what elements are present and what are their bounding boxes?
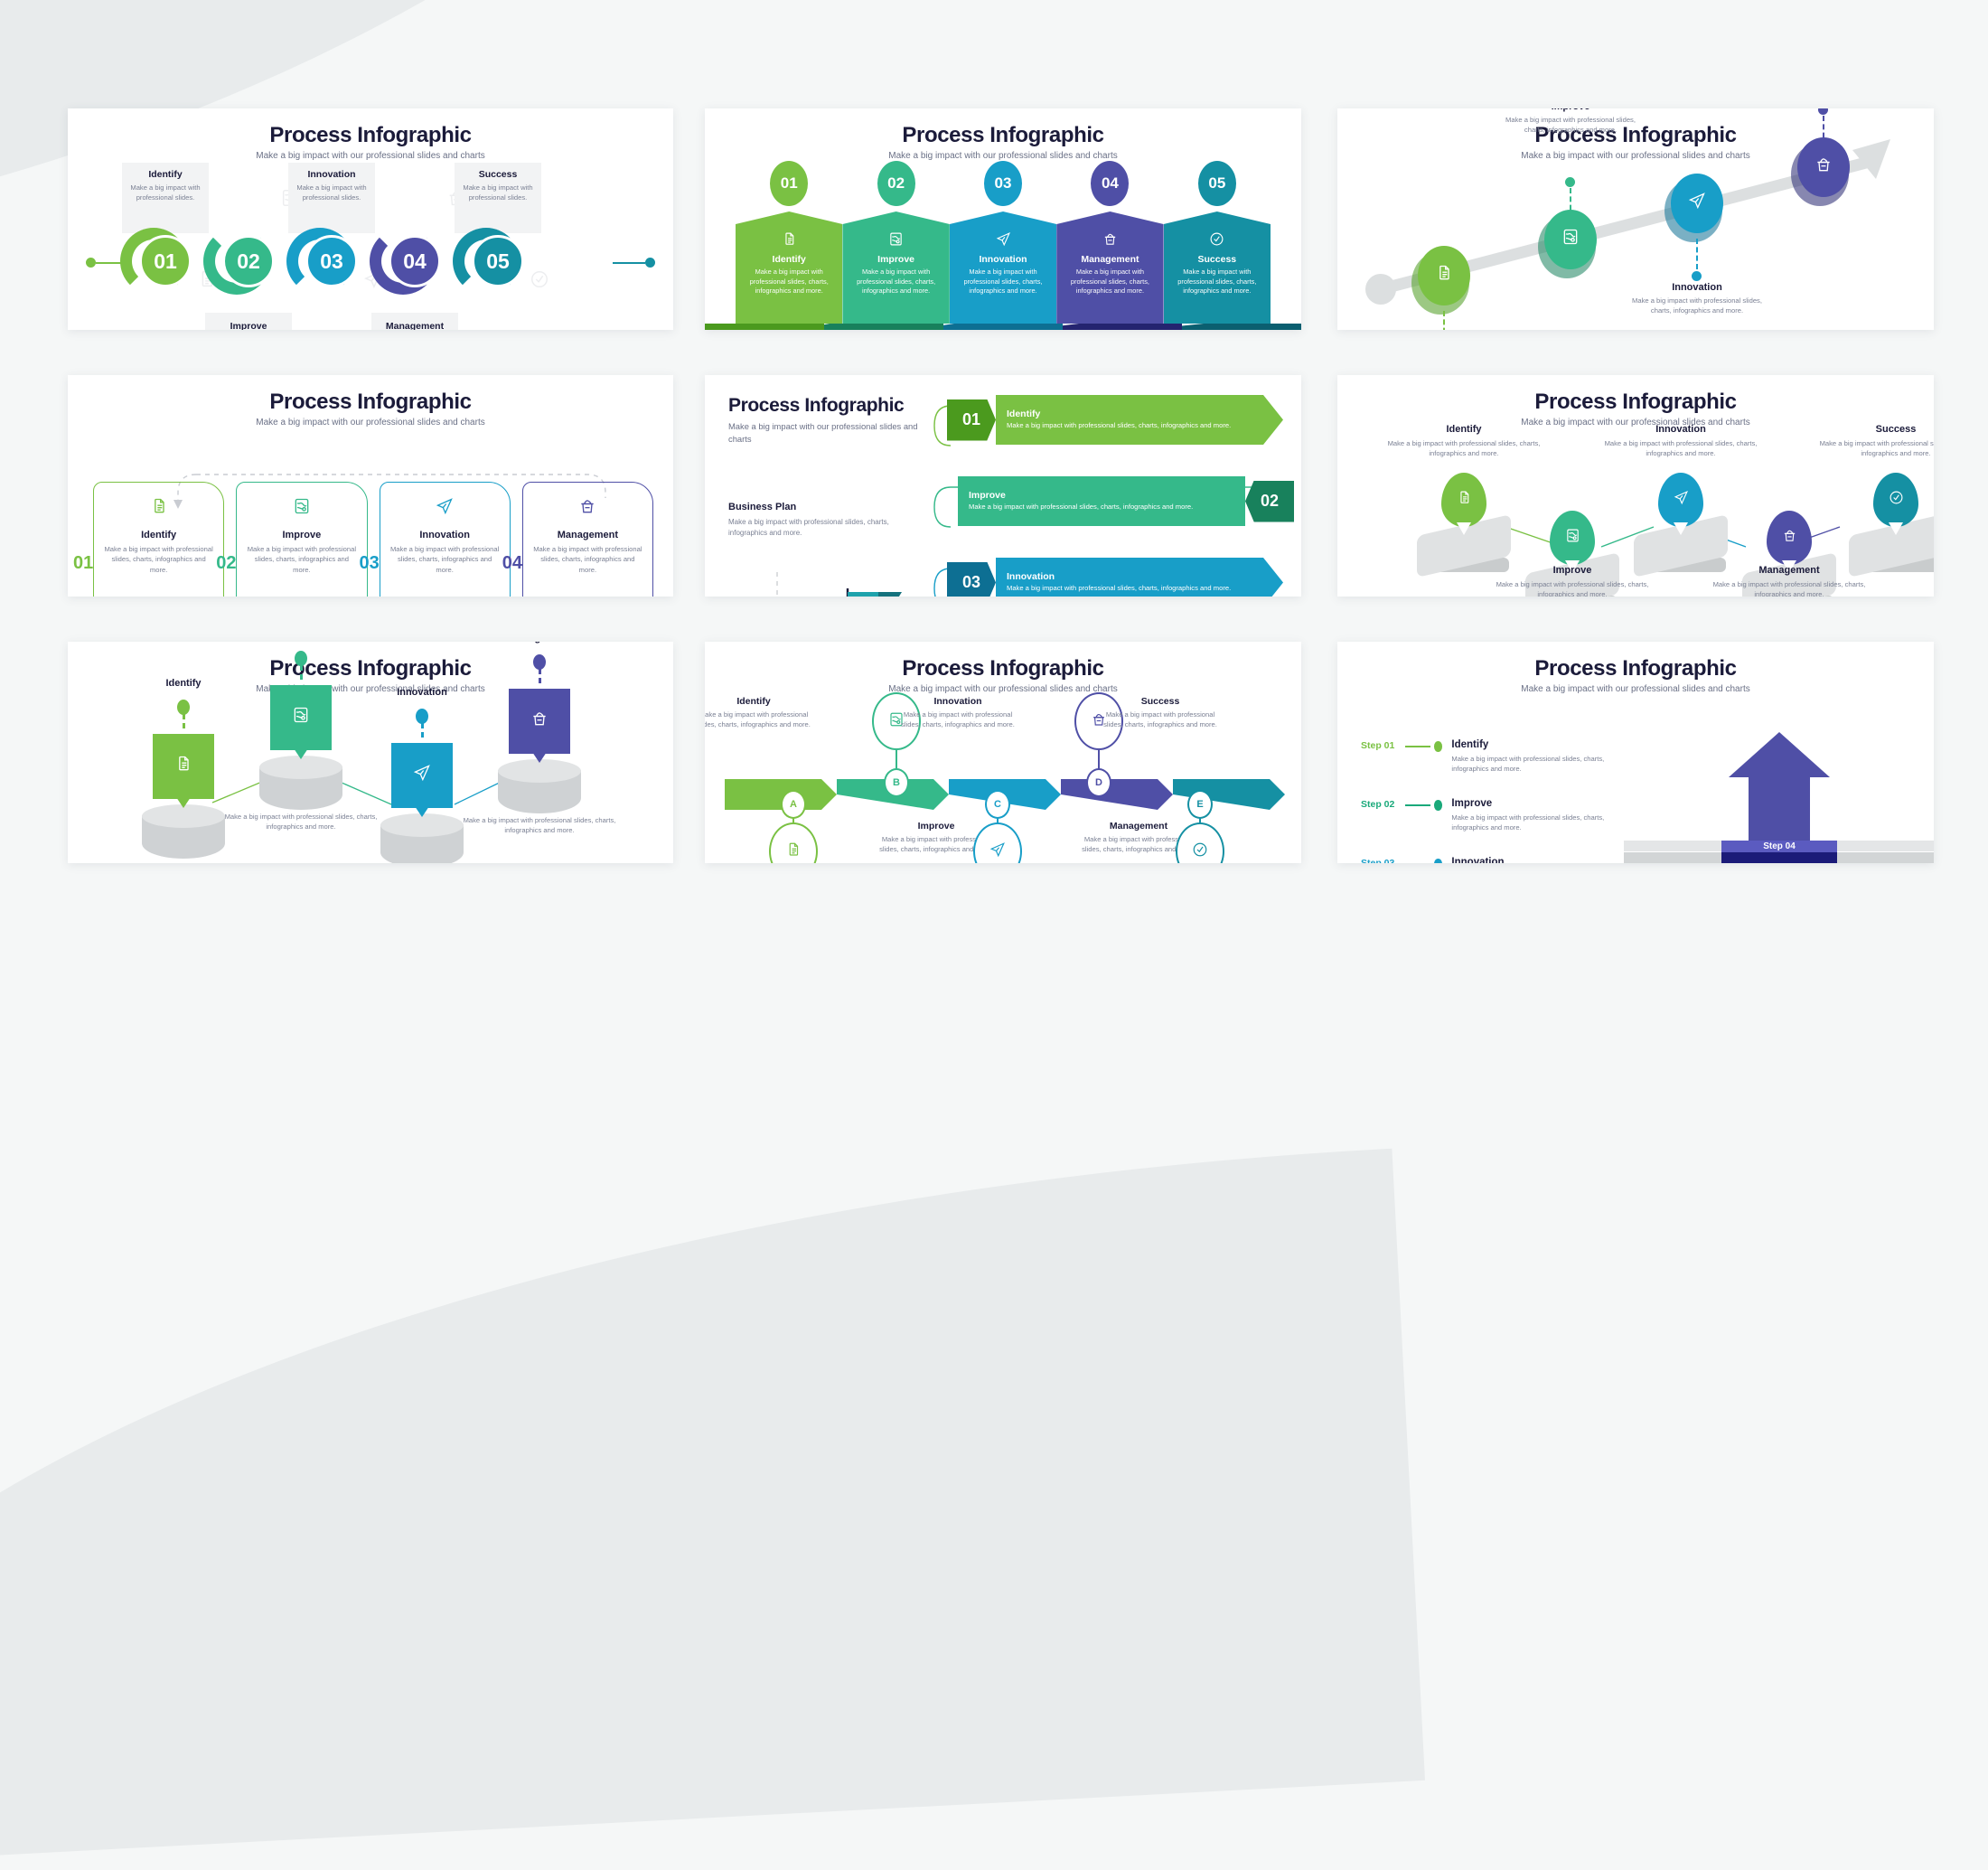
step-title: Identify xyxy=(1451,739,1632,750)
step-title: Innovation xyxy=(900,696,1016,707)
page-title: Process Infographic xyxy=(705,642,1301,681)
step-badge[interactable]: 05 xyxy=(1164,161,1271,206)
step-number: 02 xyxy=(877,161,915,206)
step-number: 03 xyxy=(984,161,1022,206)
outlined-step-card[interactable]: 04 Management Make a big impact with pro… xyxy=(522,482,653,597)
outlined-step-card[interactable]: 03 Innovation Make a big impact with pro… xyxy=(380,482,511,597)
step-description: Make a big impact with professional slid… xyxy=(742,268,836,296)
pentagon-column[interactable]: Management Make a big impact with profes… xyxy=(1056,211,1163,324)
page-title: Process Infographic xyxy=(1337,642,1934,681)
step-badge[interactable]: 01 xyxy=(736,161,842,206)
step-description: Make a big impact with professional slid… xyxy=(245,544,358,575)
step-title: Improve xyxy=(878,821,994,832)
floor-segment xyxy=(1063,324,1182,330)
map-icon xyxy=(245,497,358,519)
step-description: Make a big impact with professional slid… xyxy=(460,183,536,202)
step-description: Make a big impact with professional slid… xyxy=(224,812,378,832)
connector-dash xyxy=(421,723,424,738)
step-title: Identify xyxy=(116,678,251,689)
pin-text: Success Make a big impact with professio… xyxy=(1812,424,1934,458)
slide-chevron-band[interactable]: Process Infographic Make a big impact wi… xyxy=(705,642,1301,863)
check-circle-icon xyxy=(1170,231,1264,249)
connector-dot xyxy=(1692,271,1702,281)
step-number-circle[interactable]: 03 xyxy=(305,235,358,287)
step-description: Make a big impact with professional slid… xyxy=(849,268,942,296)
document-icon xyxy=(742,231,836,249)
cylinder-base xyxy=(380,813,464,863)
step-list-row[interactable]: Step 01 Identify Make a big impact with … xyxy=(1361,739,1632,775)
node-circle[interactable] xyxy=(1418,246,1470,305)
slide-pin-platforms[interactable]: Process Infographic Make a big impact wi… xyxy=(1337,375,1934,597)
step-description: Make a big impact with professional slid… xyxy=(1451,754,1632,775)
step-letter[interactable]: E xyxy=(1187,790,1213,819)
connector-dash xyxy=(1823,116,1824,146)
step-title: Innovation xyxy=(956,254,1050,265)
location-pin[interactable] xyxy=(1767,511,1812,565)
check-circle-icon xyxy=(530,269,549,295)
slide-pentagon-columns[interactable]: Process Infographic Make a big impact wi… xyxy=(705,108,1301,330)
step-description: Make a big impact with professional slid… xyxy=(389,544,502,575)
process-arrow-row[interactable]: 02 Improve Make a big impact with profes… xyxy=(958,476,1294,526)
step-title: Management xyxy=(531,530,644,540)
paper-plane-icon xyxy=(1688,192,1706,215)
page-subtitle: Make a big impact with our professional … xyxy=(728,420,918,445)
paper-plane-icon xyxy=(413,764,431,787)
step-list-row[interactable]: Step 03 Innovation Make a big impact wit… xyxy=(1361,857,1632,863)
connector-dash xyxy=(183,714,185,728)
map-icon xyxy=(292,706,310,729)
document-icon xyxy=(174,755,192,778)
paper-plane-icon xyxy=(956,231,1050,249)
page-subtitle: Make a big impact with our professional … xyxy=(705,151,1301,161)
flag-card[interactable] xyxy=(153,734,214,799)
archive-box-icon xyxy=(1815,155,1833,179)
rising-arrow-diagram: Identify Make a big impact with professi… xyxy=(1337,108,1934,330)
page-title: Process Infographic xyxy=(728,395,918,417)
map-icon xyxy=(1565,528,1580,548)
slide-stairs[interactable]: Process Infographic Make a big impact wi… xyxy=(1337,642,1934,863)
chevron-segment xyxy=(1061,779,1173,810)
up-arrow xyxy=(1729,732,1830,845)
step-label: Step 03 xyxy=(1361,857,1400,863)
connector-dot xyxy=(177,700,190,715)
document-icon xyxy=(1457,490,1472,510)
step-description: Make a big impact with professional slid… xyxy=(1597,438,1765,458)
node-circle[interactable] xyxy=(1671,174,1723,233)
step-number: 04 xyxy=(502,553,522,574)
step-title: Management xyxy=(472,642,607,644)
step-title: Identify xyxy=(127,169,203,180)
connector-dot xyxy=(295,651,307,666)
step-title: Success xyxy=(1170,254,1264,265)
connector-dash xyxy=(1443,311,1445,330)
step-description: Make a big impact with professional slid… xyxy=(969,503,1193,512)
connector-dot xyxy=(533,654,546,670)
step-letter[interactable]: D xyxy=(1086,768,1111,797)
step-card[interactable]: Improve Make a big impact with professio… xyxy=(205,313,292,330)
step-description: Make a big impact with professional slid… xyxy=(1170,268,1264,296)
step-title: Identify xyxy=(1007,409,1231,419)
slide-outlined-cards[interactable]: Process Infographic Make a big impact wi… xyxy=(68,375,673,597)
wave-diagram: Identify Make a big impact with professi… xyxy=(68,163,673,325)
step-title: Innovation xyxy=(354,687,490,698)
outlined-step-card[interactable]: 01 Identify Make a big impact with profe… xyxy=(93,482,224,597)
page-title: Process Infographic xyxy=(705,108,1301,148)
step-dot xyxy=(1434,859,1443,863)
node-text: Innovation Make a big impact with profes… xyxy=(1626,282,1768,315)
step-title: Improve xyxy=(1499,108,1642,112)
step-title: Innovation xyxy=(1007,571,1231,582)
step-title: Innovation xyxy=(1626,282,1768,293)
node-text: Improve Make a big impact with professio… xyxy=(1499,108,1642,135)
step-list: Step 01 Identify Make a big impact with … xyxy=(1361,739,1632,863)
step-description: Make a big impact with professional slid… xyxy=(1626,296,1768,315)
step-text: Success Make a big impact with professio… xyxy=(1102,696,1218,729)
step-card[interactable]: Innovation Make a big impact with profes… xyxy=(288,163,375,233)
location-pin[interactable] xyxy=(1873,473,1918,527)
archive-box-icon xyxy=(530,709,549,733)
step-letter[interactable]: C xyxy=(985,790,1010,819)
slide-business-plan[interactable]: Process Infographic Make a big impact wi… xyxy=(705,375,1301,597)
slide-cylinder-platforms[interactable]: Process Infographic Make a big impact wi… xyxy=(68,642,673,863)
floor-segment xyxy=(1182,324,1301,330)
step-dot xyxy=(1434,800,1443,811)
step-title: Success xyxy=(460,169,536,180)
step-title: Improve xyxy=(1451,798,1632,809)
pin-text: Innovation Make a big impact with profes… xyxy=(1597,424,1765,458)
step-description: Make a big impact with professional slid… xyxy=(900,709,1016,729)
map-icon xyxy=(849,231,942,249)
pin-text: Identify Make a big impact with professi… xyxy=(1380,424,1548,458)
step-number: 01 xyxy=(947,399,996,441)
step-description: Make a big impact with professional slid… xyxy=(1063,268,1157,296)
step-title: Management xyxy=(377,321,453,330)
connector-dot xyxy=(1565,177,1575,187)
process-arrow-row[interactable]: 01 Identify Make a big impact with profe… xyxy=(947,395,1283,445)
step-badge[interactable]: 03 xyxy=(950,161,1056,206)
step-number-circle[interactable]: 04 xyxy=(389,235,441,287)
step-description: Make a big impact with professional slid… xyxy=(127,183,203,202)
step-text: Innovation Make a big impact with profes… xyxy=(900,696,1016,729)
pentagon-column[interactable]: Improve Make a big impact with professio… xyxy=(842,211,949,324)
floor-segment xyxy=(824,324,943,330)
step-letter[interactable]: B xyxy=(884,768,909,797)
step-description: Make a big impact with professional slid… xyxy=(705,709,811,729)
check-circle-icon xyxy=(1192,841,1208,862)
flag-card[interactable] xyxy=(270,685,332,750)
step-description: Make a big impact with professional slid… xyxy=(1451,813,1632,833)
step-title: Improve xyxy=(245,530,358,540)
paper-plane-icon xyxy=(1674,490,1689,510)
connector-dash xyxy=(539,669,541,683)
document-icon xyxy=(785,841,802,862)
slide-wave-circles[interactable]: Process Infographic Make a big impact wi… xyxy=(68,108,673,330)
step-title: Identify xyxy=(102,530,215,540)
connector-dash xyxy=(1570,188,1571,219)
slide-heading-block: Process Infographic Make a big impact wi… xyxy=(728,395,918,445)
step-number-circle[interactable]: 05 xyxy=(472,235,524,287)
step-description: Make a big impact with professional slid… xyxy=(294,183,370,202)
page-subtitle: Make a big impact with our professional … xyxy=(68,418,673,428)
connector-dot xyxy=(416,709,428,724)
step-title: Innovation xyxy=(1451,857,1632,863)
step-number: 05 xyxy=(1198,161,1236,206)
outlined-step-card[interactable]: 02 Improve Make a big impact with profes… xyxy=(236,482,367,597)
cylinder-base xyxy=(259,756,342,810)
page-subtitle: Make a big impact with our professional … xyxy=(1337,684,1934,694)
step-title: Innovation xyxy=(1597,424,1765,435)
business-plan-desc: Make a big impact with professional slid… xyxy=(728,517,909,539)
cylinder-base xyxy=(498,759,581,813)
step-number: 02 xyxy=(1245,481,1294,522)
step-card[interactable]: Success Make a big impact with professio… xyxy=(455,163,541,233)
step-description: Make a big impact with professional slid… xyxy=(1007,584,1231,594)
step-text: Identify Make a big impact with professi… xyxy=(705,696,811,729)
floor-segment xyxy=(943,324,1063,330)
step-description: Make a big impact with professional slid… xyxy=(1499,115,1642,135)
flag-card[interactable] xyxy=(509,689,570,754)
document-icon xyxy=(1435,264,1453,287)
step-number: 02 xyxy=(216,553,236,574)
pentagon-column[interactable]: Success Make a big impact with professio… xyxy=(1164,211,1271,324)
step-title: Management xyxy=(1081,821,1196,832)
document-icon xyxy=(102,497,215,519)
timeline-end xyxy=(613,258,655,268)
archive-box-icon xyxy=(1063,231,1157,249)
pin-text: Improve Make a big impact with professio… xyxy=(1488,565,1656,597)
step-description: Make a big impact with professional slid… xyxy=(1380,438,1548,458)
step-label: Step 01 xyxy=(1361,739,1400,751)
step-number: 04 xyxy=(1091,161,1129,206)
stairs-diagram: Step 04 Step 03 Step 02 xyxy=(1648,736,1910,863)
pentagon-column[interactable]: Innovation Make a big impact with profes… xyxy=(950,211,1056,324)
page-title: Process Infographic xyxy=(68,375,673,415)
step-description: Make a big impact with professional slid… xyxy=(463,815,616,836)
step-title: Success xyxy=(1812,424,1934,435)
pentagon-diagram: 01 02 03 04 05 Identify Make a big impac… xyxy=(705,161,1301,330)
pentagon-column[interactable]: Identify Make a big impact with professi… xyxy=(736,211,842,324)
business-plan-heading: Business Plan xyxy=(728,502,909,512)
step-title: Improve xyxy=(969,490,1193,501)
icon-circle[interactable] xyxy=(769,822,818,863)
connector-dash xyxy=(300,665,303,680)
location-pin[interactable] xyxy=(1441,473,1486,527)
step-card[interactable]: Management Make a big impact with profes… xyxy=(371,313,458,330)
paper-plane-icon xyxy=(389,497,502,519)
step-title: Innovation xyxy=(294,169,370,180)
archive-box-icon xyxy=(531,497,644,519)
step-number-circle[interactable]: 01 xyxy=(139,235,192,287)
paper-plane-icon xyxy=(989,841,1006,862)
step-title: Innovation xyxy=(389,530,502,540)
step-description: Make a big impact with professional slid… xyxy=(956,268,1050,296)
step-description: Make a big impact with professional slid… xyxy=(1488,579,1656,597)
step-label: Step 02 xyxy=(1361,798,1400,810)
step-description: Make a big impact with professional slid… xyxy=(1102,709,1218,729)
step-description: Make a big impact with professional slid… xyxy=(1007,421,1231,431)
step-badge[interactable]: 04 xyxy=(1056,161,1163,206)
check-circle-icon xyxy=(1889,490,1904,510)
step-number: 01 xyxy=(770,161,808,206)
step-number: 01 xyxy=(73,553,93,574)
flag-card[interactable] xyxy=(391,743,453,808)
location-pin[interactable] xyxy=(1658,473,1703,527)
process-arrow-row[interactable]: 03 Innovation Make a big impact with pro… xyxy=(947,558,1283,597)
step-title: Identify xyxy=(1380,424,1548,435)
step-letter[interactable]: A xyxy=(781,790,806,819)
step-description: Make a big impact with professional slid… xyxy=(1812,438,1934,458)
step-number: 03 xyxy=(947,562,996,597)
stair-step[interactable]: Step 04 xyxy=(1648,841,1910,863)
floor-segment xyxy=(705,324,824,330)
step-title: Improve xyxy=(849,254,942,265)
step-title: Management xyxy=(1063,254,1157,265)
step-dot xyxy=(1434,741,1443,752)
page-subtitle: Make a big impact with our professional … xyxy=(68,151,673,161)
step-list-row[interactable]: Step 02 Improve Make a big impact with p… xyxy=(1361,798,1632,833)
cylinder-base xyxy=(142,804,225,859)
stair-label: Step 04 xyxy=(1721,841,1837,852)
step-number: 03 xyxy=(360,553,380,574)
archive-box-icon xyxy=(1782,528,1797,548)
page-subtitle: Make a big impact with our professional … xyxy=(705,684,1301,694)
step-title: Success xyxy=(1102,696,1218,707)
step-badge[interactable]: 02 xyxy=(842,161,949,206)
step-description: Make a big impact with professional slid… xyxy=(1705,579,1873,597)
arrow-body: Innovation Make a big impact with profes… xyxy=(996,558,1283,597)
step-title: Identify xyxy=(705,696,811,707)
step-description: Make a big impact with professional slid… xyxy=(531,544,644,575)
step-title: Identify xyxy=(742,254,836,265)
step-title: Improve xyxy=(1488,565,1656,576)
location-pin[interactable] xyxy=(1550,511,1595,565)
page-title: Process Infographic xyxy=(68,108,673,148)
step-number-circle[interactable]: 02 xyxy=(222,235,275,287)
slide-rising-arrow[interactable]: Process Infographic Make a big impact wi… xyxy=(1337,108,1934,330)
step-description: Make a big impact with professional slid… xyxy=(102,544,215,575)
arrow-body: Improve Make a big impact with professio… xyxy=(958,476,1245,526)
connector-dash xyxy=(1696,239,1698,269)
step-card[interactable]: Identify Make a big impact with professi… xyxy=(122,163,209,233)
step-title: Improve xyxy=(211,321,286,330)
map-icon xyxy=(1561,228,1580,251)
arrow-body: Identify Make a big impact with professi… xyxy=(996,395,1283,445)
business-plan-block: Business Plan Make a big impact with pro… xyxy=(728,502,909,539)
